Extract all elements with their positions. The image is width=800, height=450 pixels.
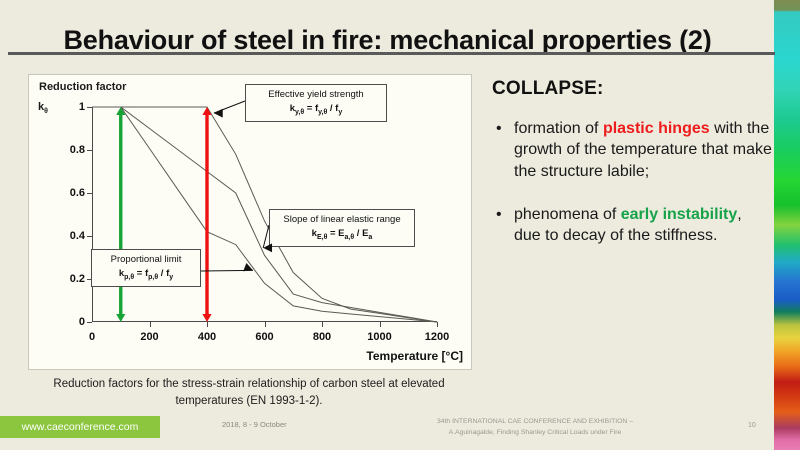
y-tick-mark [87, 107, 92, 108]
page-title: Behaviour of steel in fire: mechanical p… [0, 18, 775, 62]
y-tick-mark [87, 236, 92, 237]
slide: Behaviour of steel in fire: mechanical p… [0, 0, 800, 450]
y-tick-label: 0 [79, 316, 85, 328]
bullet-marker: • [496, 204, 502, 225]
bullet-list: •formation of plastic hinges with the gr… [492, 118, 772, 246]
decorative-color-strip [774, 0, 800, 450]
chart-panel: Reduction factor kθ 00.20.40.60.81020040… [28, 74, 472, 370]
red-arrow-head [202, 314, 211, 322]
y-axis-symbol: kθ [38, 101, 48, 115]
x-tick-label: 600 [255, 331, 273, 343]
bullet-item: •formation of plastic hinges with the gr… [492, 118, 772, 182]
x-tick-mark [322, 322, 323, 327]
x-axis-label: Temperature [°C] [366, 349, 463, 363]
annotation-effective-yield-strength: Effective yield strength ky,θ = fy,θ / f… [245, 84, 387, 122]
x-tick-label: 0 [89, 331, 95, 343]
x-tick-mark [437, 322, 438, 327]
annotation-line1: Effective yield strength [252, 88, 380, 102]
bullet-highlight: early instability [621, 206, 738, 223]
title-divider [8, 52, 775, 55]
annotation-line1: Slope of linear elastic range [276, 213, 408, 227]
content-heading: COLLAPSE: [492, 78, 772, 100]
x-tick-label: 200 [140, 331, 158, 343]
annotation-formula: ky,θ = fy,θ / fy [252, 102, 380, 118]
bullet-item: •phenomena of early instability, due to … [492, 204, 772, 247]
annotation-proportional-limit: Proportional limit kp,θ = fp,θ / fy [91, 249, 201, 287]
x-tick-label: 1000 [367, 331, 391, 343]
footer-date: 2018, 8 - 9 October [222, 420, 287, 429]
y-tick-label: 0.8 [70, 144, 85, 156]
y-tick-label: 0.6 [70, 187, 85, 199]
x-tick-label: 800 [313, 331, 331, 343]
y-tick-label: 0.2 [70, 273, 85, 285]
footer-conference-info: 34th INTERNATIONAL CAE CONFERENCE AND EX… [385, 417, 685, 438]
y-tick-label: 1 [79, 101, 85, 113]
red-arrow-head [202, 107, 211, 115]
bullet-highlight: plastic hinges [603, 120, 710, 137]
x-tick-mark [265, 322, 266, 327]
x-tick-mark [150, 322, 151, 327]
y-tick-mark [87, 322, 92, 323]
footer-page-number: 10 [748, 422, 756, 429]
green-arrow-head [116, 107, 125, 115]
footer: www.caeconference.com 2018, 8 - 9 Octobe… [0, 416, 800, 450]
bullet-marker: • [496, 118, 502, 139]
x-tick-label: 1200 [425, 331, 449, 343]
footer-conference-line1: 34th INTERNATIONAL CAE CONFERENCE AND EX… [385, 417, 685, 428]
annotation-slope-linear-elastic-range: Slope of linear elastic range kE,θ = Ea,… [269, 209, 415, 247]
x-tick-mark [207, 322, 208, 327]
y-tick-label: 0.4 [70, 230, 85, 242]
title-area: Behaviour of steel in fire: mechanical p… [0, 18, 775, 70]
x-tick-label: 400 [198, 331, 216, 343]
bullet-text-lead: formation of [514, 120, 603, 137]
chart-title: Reduction factor [39, 81, 126, 93]
chart-caption: Reduction factors for the stress-strain … [28, 376, 470, 409]
y-tick-mark [87, 150, 92, 151]
footer-conference-line2: A.Aguinagalde, Finding Shanley Critical … [385, 428, 685, 439]
y-tick-mark [87, 193, 92, 194]
green-arrow-head [116, 314, 125, 322]
x-tick-mark [380, 322, 381, 327]
annotation-formula: kp,θ = fp,θ / fy [98, 267, 194, 283]
annotation-line1: Proportional limit [98, 253, 194, 267]
content-column: COLLAPSE: •formation of plastic hinges w… [492, 78, 772, 268]
footer-website-badge[interactable]: www.caeconference.com [0, 416, 160, 438]
annotation-formula: kE,θ = Ea,θ / Ea [276, 227, 408, 243]
bullet-text-lead: phenomena of [514, 206, 621, 223]
